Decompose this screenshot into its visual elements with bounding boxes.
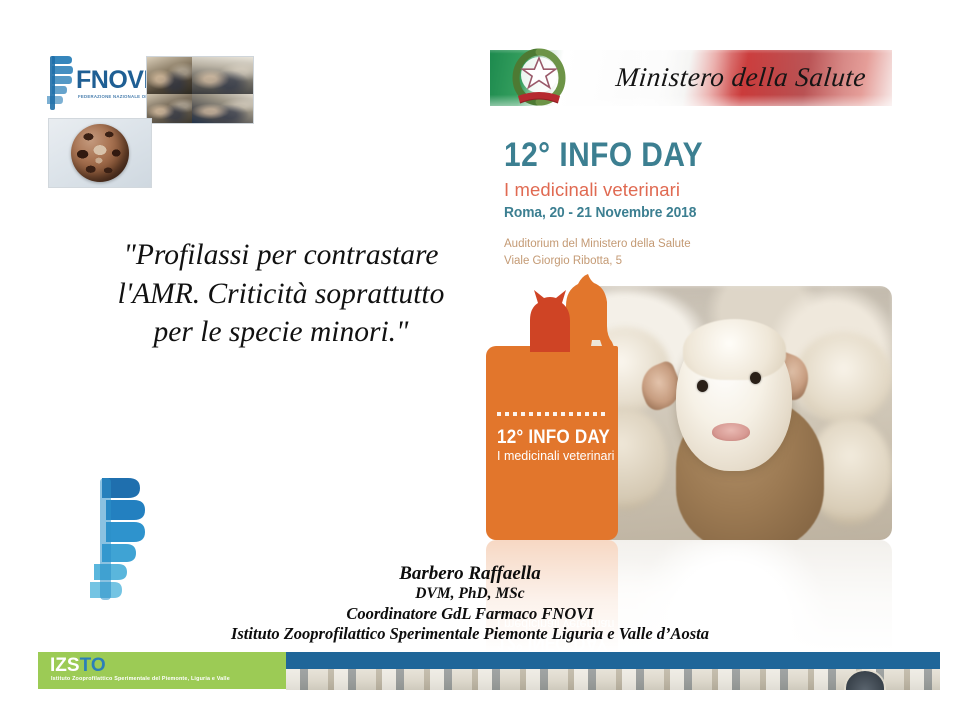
izs-helix-icon — [88, 474, 150, 602]
info-day-badge: 12° INFO DAY I medicinali veterinari — [486, 346, 618, 540]
dog-silhouette-icon — [566, 274, 616, 352]
lamb-eye — [697, 380, 708, 392]
lamb-muzzle — [712, 423, 751, 441]
lamb-wool — [683, 319, 786, 380]
fnovi-helix-icon — [44, 54, 74, 110]
presentation-slide: FNOVI FEDERAZIONE NAZIONALE ORDINI VETER… — [0, 0, 960, 720]
izsto-subtitle: Istituto Zooprofilattico Sperimentale de… — [51, 676, 230, 682]
poster-heading-block: 12° INFO DAY I medicinali veterinari Rom… — [504, 138, 730, 221]
badge-subtitle: I medicinali veterinari — [497, 450, 614, 463]
poster-title: 12° INFO DAY — [504, 138, 703, 172]
izsto-wordmark: IZSTO — [50, 656, 106, 675]
background-sheep — [795, 332, 892, 423]
izsto-word-secondary: TO — [80, 655, 106, 676]
ministry-header-band: Ministero della Salute — [486, 40, 892, 116]
fnovi-wordmark: FNOVI — [76, 66, 150, 95]
speaker-role: Coordinatore GdL Farmaco FNOVI — [150, 604, 790, 624]
sphere-object — [71, 124, 129, 182]
poster-venue: Auditorium del Ministero della Salute Vi… — [504, 236, 691, 269]
page-title: "Profilassi per contrastare l'AMR. Criti… — [116, 236, 446, 352]
info-day-poster: Ministero della Salute 12° INFO DAY I me… — [486, 40, 892, 540]
izsto-word-primary: IZS — [50, 655, 80, 676]
carved-sphere-photo — [48, 118, 152, 188]
poster-subtitle: I medicinali veterinari — [504, 179, 730, 201]
collage-photo — [147, 94, 192, 123]
cat-and-dog-silhouette-icon — [504, 266, 622, 352]
italian-republic-emblem-icon — [508, 44, 570, 112]
badge-dotted-divider — [497, 412, 607, 416]
collage-photo — [147, 57, 192, 94]
conference-photo-collage — [146, 56, 254, 124]
collage-photo — [192, 57, 253, 94]
fnovi-logo: FNOVI FEDERAZIONE NAZIONALE ORDINI VETER… — [44, 52, 152, 114]
speaker-institution: Istituto Zooprofilattico Sperimentale Pi… — [150, 624, 790, 644]
ministry-name: Ministero della Salute — [614, 62, 867, 93]
poster-date: Roma, 20 - 21 Novembre 2018 — [504, 204, 712, 221]
izsto-footer-logo: IZSTO Istituto Zooprofilattico Speriment… — [38, 652, 286, 689]
venue-line-1: Auditorium del Ministero della Salute — [504, 236, 691, 253]
badge-title: 12° INFO DAY — [497, 428, 610, 447]
speaker-degrees: DVM, PhD, MSc — [150, 585, 790, 604]
building-facade-photo — [286, 669, 940, 690]
collage-photo — [192, 94, 253, 123]
speaker-credits: Barbero Raffaella DVM, PhD, MSc Coordina… — [150, 563, 790, 644]
cat-silhouette-icon — [530, 290, 570, 352]
footer-blue-bar — [286, 652, 940, 669]
speaker-name: Barbero Raffaella — [150, 563, 790, 585]
